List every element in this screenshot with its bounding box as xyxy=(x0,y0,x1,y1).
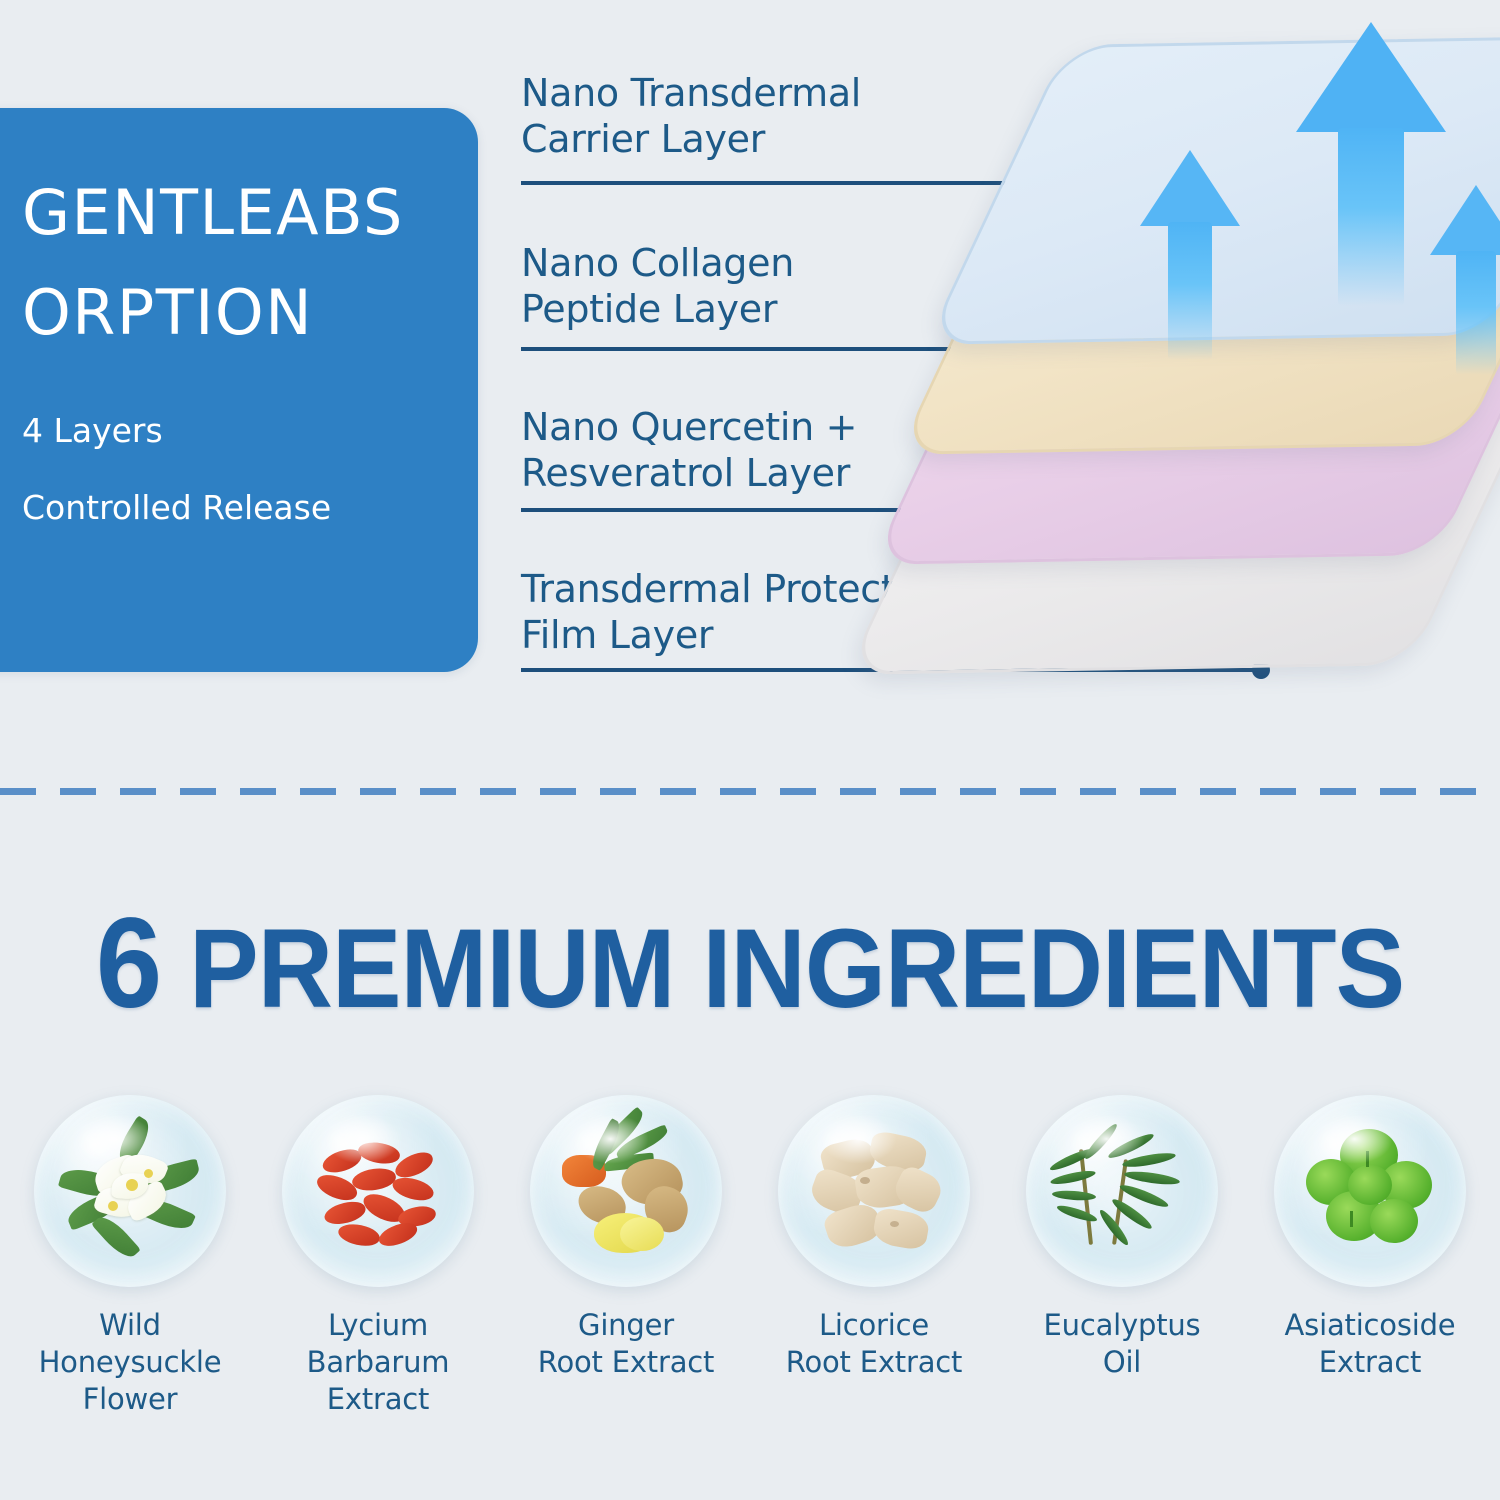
ingredients-heading: 6 PREMIUM INGREDIENTS xyxy=(53,890,1448,1037)
upward-arrow-icon xyxy=(1140,150,1240,360)
ingredient-caption: Lycium Barbarum Extract xyxy=(307,1307,450,1418)
ingredient-bubble xyxy=(282,1095,474,1287)
licorice-root-icon xyxy=(808,1125,940,1257)
upward-arrow-icon xyxy=(1296,22,1446,302)
ingredient-bubble xyxy=(1026,1095,1218,1287)
ingredient-caption: Wild Honeysuckle Flower xyxy=(39,1307,222,1418)
brand-subtitle-release: Controlled Release xyxy=(22,491,452,524)
ingredient-caption: Licorice Root Extract xyxy=(786,1307,962,1381)
honeysuckle-flower-icon xyxy=(64,1125,196,1257)
ingredient-bubble xyxy=(34,1095,226,1287)
upward-arrow-icon xyxy=(1430,185,1500,375)
brand-title-line-1: GENTLEABS xyxy=(22,182,452,244)
ingredient-bubble xyxy=(778,1095,970,1287)
ingredient-grid: Wild Honeysuckle Flower xyxy=(0,1095,1500,1418)
layered-patch-illustration xyxy=(930,10,1500,770)
ingredient-item: Eucalyptus Oil xyxy=(1008,1095,1236,1418)
brand-title-line-2: ORPTION xyxy=(22,282,452,344)
ingredient-item: Lycium Barbarum Extract xyxy=(264,1095,492,1418)
layer-technology-section: GENTLEABS ORPTION 4 Layers Controlled Re… xyxy=(0,0,1500,790)
ingredient-item: Ginger Root Extract xyxy=(512,1095,740,1418)
ingredients-count: 6 xyxy=(96,892,161,1035)
layer-label-quercetin-resveratrol: Nano Quercetin + Resveratrol Layer xyxy=(521,404,857,497)
ingredients-heading-text: PREMIUM INGREDIENTS xyxy=(161,906,1404,1031)
ingredients-section: 6 PREMIUM INGREDIENTS xyxy=(0,795,1500,1500)
ingredient-item: Wild Honeysuckle Flower xyxy=(16,1095,244,1418)
ingredient-bubble xyxy=(1274,1095,1466,1287)
ingredient-caption: Asiaticoside Extract xyxy=(1285,1307,1456,1381)
goji-berry-icon xyxy=(312,1125,444,1257)
brand-callout-card: GENTLEABS ORPTION 4 Layers Controlled Re… xyxy=(0,108,478,672)
brand-subtitle-layers: 4 Layers xyxy=(22,414,452,447)
ingredient-item: Asiaticoside Extract xyxy=(1256,1095,1484,1418)
centella-leaf-icon xyxy=(1304,1125,1436,1257)
ingredient-caption: Eucalyptus Oil xyxy=(1044,1307,1201,1381)
ingredient-bubble xyxy=(530,1095,722,1287)
ginger-root-icon xyxy=(560,1125,692,1257)
leader-line-nano-carrier xyxy=(521,181,1030,185)
layer-label-collagen-peptide: Nano Collagen Peptide Layer xyxy=(521,240,794,333)
dashed-divider xyxy=(0,788,1500,795)
ingredient-item: Licorice Root Extract xyxy=(760,1095,988,1418)
eucalyptus-leaf-icon xyxy=(1056,1125,1188,1257)
ingredient-caption: Ginger Root Extract xyxy=(538,1307,714,1381)
layer-label-nano-carrier: Nano Transdermal Carrier Layer xyxy=(521,70,861,163)
